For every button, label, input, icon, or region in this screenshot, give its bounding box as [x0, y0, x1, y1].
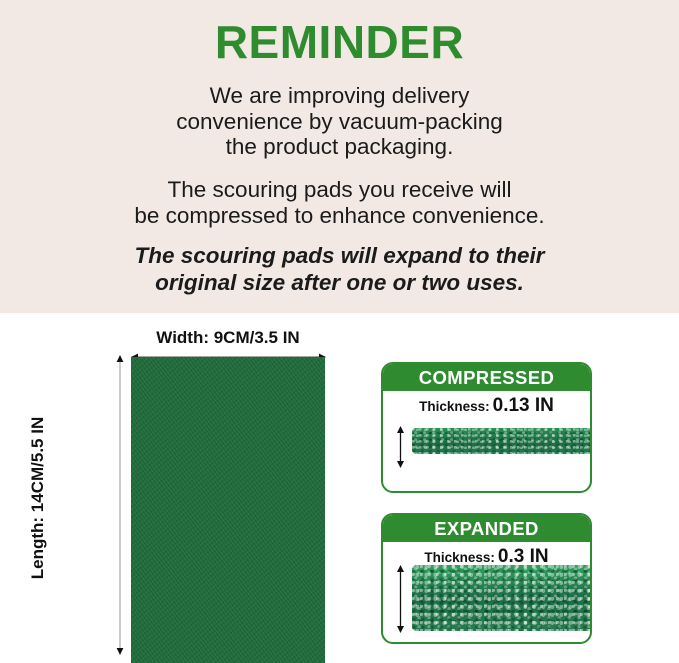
expanded-info-card: EXPANDED Thickness:0.3 IN — [381, 513, 592, 644]
length-dimension-arrow-icon — [115, 355, 125, 655]
compressed-thickness-arrow-icon — [395, 426, 406, 468]
reminder-banner: REMINDER We are improving deliveryconven… — [0, 0, 679, 313]
product-dimensions-section: Width: 9CM/3.5 IN Length: 14CM/5.5 IN CO… — [0, 313, 679, 663]
compressed-card-header: COMPRESSED — [383, 364, 590, 391]
expanded-thickness-label: Thickness: — [424, 550, 495, 565]
expanded-thickness-value: 0.3 IN — [498, 546, 549, 567]
length-dimension-label: Length: 14CM/5.5 IN — [28, 398, 48, 598]
compressed-thickness-label: Thickness: — [419, 399, 490, 414]
expanded-card-header: EXPANDED — [383, 515, 590, 542]
scouring-pad-image — [131, 357, 325, 663]
compressed-pad-strip-image — [412, 428, 592, 454]
reminder-paragraph-2: The scouring pads you receive willbe com… — [0, 177, 679, 228]
compressed-info-card: COMPRESSED Thickness:0.13 IN — [381, 362, 592, 493]
expanded-thickness-arrow-icon — [395, 565, 406, 633]
product-infographic: REMINDER We are improving deliveryconven… — [0, 0, 679, 663]
reminder-paragraph-1: We are improving deliveryconvenience by … — [0, 83, 679, 160]
reminder-paragraph-3: The scouring pads will expand to theiror… — [0, 242, 679, 296]
reminder-title: REMINDER — [0, 19, 679, 65]
compressed-thickness-row: Thickness:0.13 IN — [383, 395, 590, 417]
width-dimension-label: Width: 9CM/3.5 IN — [131, 328, 325, 348]
compressed-thickness-value: 0.13 IN — [493, 395, 554, 416]
expanded-pad-strip-image — [412, 565, 592, 631]
